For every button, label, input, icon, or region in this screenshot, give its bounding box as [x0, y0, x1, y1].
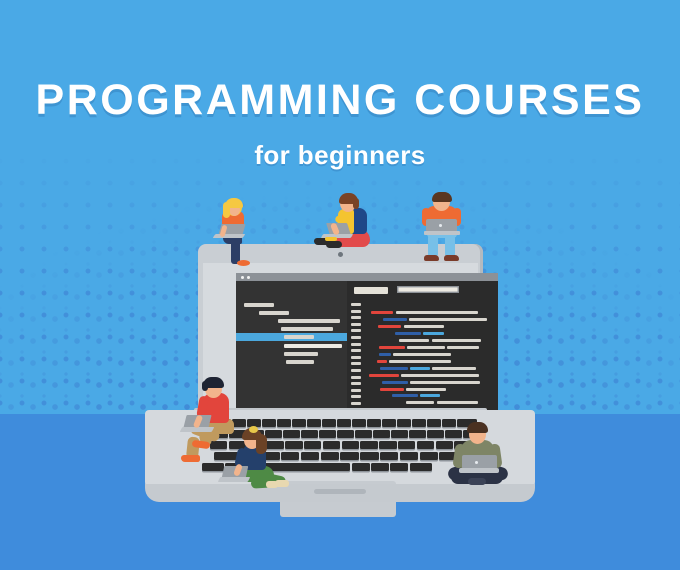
tab-inactive[interactable] [354, 287, 388, 294]
code-token [420, 394, 440, 397]
keyboard-key[interactable] [304, 441, 321, 449]
window-dot-icon[interactable] [247, 276, 250, 279]
keyboard-key[interactable] [342, 441, 359, 449]
keyboard-key[interactable] [367, 419, 381, 427]
person-man-olive-sweater-right [442, 422, 516, 504]
keyboard-key[interactable] [417, 441, 434, 449]
code-token [406, 401, 434, 404]
code-token [383, 318, 407, 321]
person-man-top-center [312, 193, 384, 255]
keyboard-key[interactable] [391, 430, 408, 438]
laptop-illustration [130, 230, 550, 530]
line-number [351, 336, 361, 339]
code-token [410, 367, 430, 370]
keyboard-key[interactable] [360, 441, 377, 449]
page-subtitle: for beginners [0, 140, 680, 171]
code-token [409, 318, 487, 321]
code-token [407, 346, 445, 349]
keyboard-key[interactable] [397, 419, 411, 427]
editor-titlebar [236, 273, 498, 281]
line-number [351, 376, 361, 379]
code-token [396, 311, 478, 314]
file-tree-item[interactable] [259, 311, 289, 315]
file-tree-item[interactable] [244, 303, 274, 307]
code-token [371, 311, 393, 314]
laptop-latch-notch [314, 489, 366, 494]
code-token [404, 325, 444, 328]
file-tree-item[interactable] [284, 352, 318, 356]
keyboard-key[interactable] [323, 441, 340, 449]
keyboard-key[interactable] [301, 452, 319, 460]
code-token [392, 394, 418, 397]
code-token [369, 374, 399, 377]
keyboard-key[interactable] [321, 452, 339, 460]
file-tree-item[interactable] [286, 360, 314, 364]
line-number [351, 343, 361, 346]
person-woman-green-pants-center [218, 426, 290, 506]
keyboard-key[interactable] [319, 430, 336, 438]
file-tree-item[interactable] [284, 344, 342, 348]
person-man-orange-top-right [414, 192, 478, 260]
keyboard-key[interactable] [301, 430, 318, 438]
window-dot-icon[interactable] [241, 276, 244, 279]
keyboard-key[interactable] [307, 419, 321, 427]
keyboard-key[interactable] [340, 452, 358, 460]
person-woman-blonde-top-left [204, 198, 264, 260]
tab-active[interactable] [397, 286, 459, 293]
keyboard-key[interactable] [390, 463, 408, 471]
line-number [351, 323, 361, 326]
line-number [351, 329, 361, 332]
code-token [380, 388, 404, 391]
line-number [351, 389, 361, 392]
code-token [432, 367, 476, 370]
keyboard-key[interactable] [427, 419, 441, 427]
keyboard-key[interactable] [379, 441, 396, 449]
code-token [399, 339, 429, 342]
line-number [351, 395, 361, 398]
code-token [389, 360, 451, 363]
line-number [351, 349, 361, 352]
line-number [351, 310, 361, 313]
keyboard-key[interactable] [373, 430, 390, 438]
keyboard-key[interactable] [337, 419, 351, 427]
keyboard-key[interactable] [337, 430, 354, 438]
code-token [410, 381, 480, 384]
line-number [351, 362, 361, 365]
file-tree-item[interactable] [284, 335, 314, 339]
code-token [378, 325, 401, 328]
line-number [351, 356, 361, 359]
keyboard-key[interactable] [420, 452, 438, 460]
code-token [432, 339, 481, 342]
code-token [380, 367, 408, 370]
code-token [447, 346, 479, 349]
code-token [437, 401, 478, 404]
keyboard-key[interactable] [380, 452, 398, 460]
poster-canvas: PROGRAMMING COURSES for beginners [0, 0, 680, 570]
keyboard-key[interactable] [355, 430, 372, 438]
code-token [395, 332, 421, 335]
line-number [351, 402, 361, 405]
keyboard-key[interactable] [360, 452, 378, 460]
keyboard-key[interactable] [398, 441, 415, 449]
keyboard-key[interactable] [409, 430, 426, 438]
code-token [406, 388, 446, 391]
code-token [423, 332, 444, 335]
keyboard-key[interactable] [352, 419, 366, 427]
keyboard-key[interactable] [371, 463, 389, 471]
code-token [379, 353, 391, 356]
keyboard-key[interactable] [410, 463, 432, 471]
keyboard-key[interactable] [352, 463, 370, 471]
code-token [377, 360, 387, 363]
keyboard-key[interactable] [322, 419, 336, 427]
page-title: PROGRAMMING COURSES [0, 76, 680, 125]
keyboard-key[interactable] [400, 452, 418, 460]
code-token [393, 353, 451, 356]
line-number [351, 369, 361, 372]
code-token [379, 346, 405, 349]
line-number [351, 303, 361, 306]
keyboard-key[interactable] [382, 419, 396, 427]
keyboard-key[interactable] [292, 419, 306, 427]
code-token [382, 381, 408, 384]
code-token [401, 374, 479, 377]
file-tree-item[interactable] [278, 319, 340, 323]
editor-screen [236, 273, 498, 414]
editor-line-number-gutter [351, 303, 361, 403]
file-tree-item[interactable] [281, 327, 333, 331]
line-number [351, 382, 361, 385]
line-number [351, 316, 361, 319]
keyboard-key[interactable] [412, 419, 426, 427]
